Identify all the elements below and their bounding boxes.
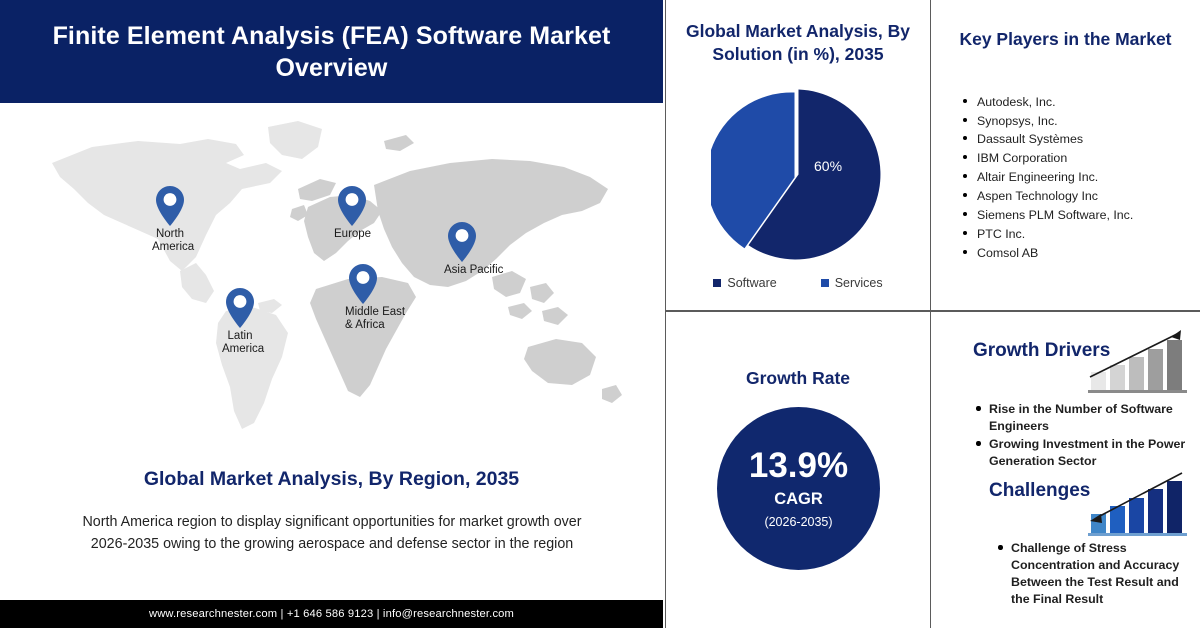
pin-label-line1: Middle East [345,306,405,318]
pin-label: Latin America [222,330,258,356]
pin-label-line2: America [152,241,194,253]
legend-swatch-icon [713,279,721,287]
pin-north-america[interactable]: North America [152,185,188,254]
solution-pie-panel: Global Market Analysis, By Solution (in … [666,0,930,310]
list-item: Growing Investment in the Power Generati… [989,436,1194,469]
pin-label-line1: Latin [228,330,253,342]
list-item: Siemens PLM Software, Inc. [977,206,1200,225]
cagr-badge: 13.9% CAGR (2026-2035) [717,407,880,570]
cagr-unit: CAGR [774,490,823,509]
pin-label: Europe [334,228,370,241]
drivers-challenges-panel: Growth Drivers Rise in the Number of Sof… [931,312,1200,628]
pin-label-line2: & Africa [345,319,385,331]
map-pin-icon [155,185,185,227]
pin-label: Middle East & Africa [345,306,381,332]
growth-rate-panel: Growth Rate 13.9% CAGR (2026-2035) [666,312,930,628]
map-pin-icon [225,287,255,329]
world-map-graphic [30,111,640,441]
infographic-root: Finite Element Analysis (FEA) Software M… [0,0,1200,628]
growth-rate-title: Growth Rate [666,367,930,390]
list-item: Comsol AB [977,244,1200,263]
challenges-list: Challenge of Stress Concentration and Ac… [1011,540,1191,610]
cagr-value: 13.9% [749,448,848,483]
list-item: PTC Inc. [977,225,1200,244]
footer-contact-text: www.researchnester.com | +1 646 586 9123… [149,608,514,620]
pin-label-line1: North [156,228,184,240]
list-item: Synopsys, Inc. [977,112,1200,131]
challenges-bar-chart-icon [1085,467,1190,539]
growth-drivers-bar-chart-icon [1085,324,1190,396]
pin-middle-east-africa[interactable]: Middle East & Africa [345,263,381,332]
list-item: Rise in the Number of Software Engineers [989,401,1194,434]
challenges-title: Challenges [989,480,1090,503]
pin-label: Asia Pacific [444,264,480,277]
pin-asia-pacific[interactable]: Asia Pacific [444,221,480,277]
list-item: Dassault Systèmes [977,130,1200,149]
cagr-period: (2026-2035) [764,515,832,529]
pin-label-line2: America [222,343,264,355]
solution-pie-chart[interactable] [711,87,886,262]
list-item: IBM Corporation [977,149,1200,168]
pin-europe[interactable]: Europe [334,185,370,241]
key-players-panel: Key Players in the Market Autodesk, Inc.… [931,0,1200,310]
pin-latin-america[interactable]: Latin America [222,287,258,356]
left-section: Finite Element Analysis (FEA) Software M… [0,0,663,628]
pin-label-line1: Asia Pacific [444,264,503,276]
map-pin-icon [348,263,378,305]
map-pin-icon [337,185,367,227]
key-players-title: Key Players in the Market [931,28,1200,51]
growth-drivers-list: Rise in the Number of Software Engineers… [989,401,1194,471]
legend-swatch-icon [821,279,829,287]
map-pin-icon [447,221,477,263]
pie-legend: Software Services [666,276,930,290]
page-title: Finite Element Analysis (FEA) Software M… [37,20,627,84]
list-item: Autodesk, Inc. [977,93,1200,112]
key-players-list: Autodesk, Inc. Synopsys, Inc. Dassault S… [931,93,1200,263]
list-item: Aspen Technology Inc [977,187,1200,206]
region-analysis-title: Global Market Analysis, By Region, 2035 [0,468,663,491]
pie-panel-title: Global Market Analysis, By Solution (in … [666,20,930,66]
legend-label: Services [835,276,883,290]
legend-label: Software [727,276,776,290]
world-map-panel: North America Latin America [0,103,663,455]
footer-bar: www.researchnester.com | +1 646 586 9123… [0,600,663,628]
pin-label: North America [152,228,188,254]
list-item: Altair Engineering Inc. [977,168,1200,187]
list-item: Challenge of Stress Concentration and Ac… [1011,540,1191,608]
region-analysis-description: North America region to display signific… [82,512,582,555]
pie-slice-value-label: 60% [814,158,842,174]
legend-item-services[interactable]: Services [821,276,883,290]
pin-label-line1: Europe [334,228,371,240]
header-band: Finite Element Analysis (FEA) Software M… [0,0,663,103]
legend-item-software[interactable]: Software [713,276,776,290]
